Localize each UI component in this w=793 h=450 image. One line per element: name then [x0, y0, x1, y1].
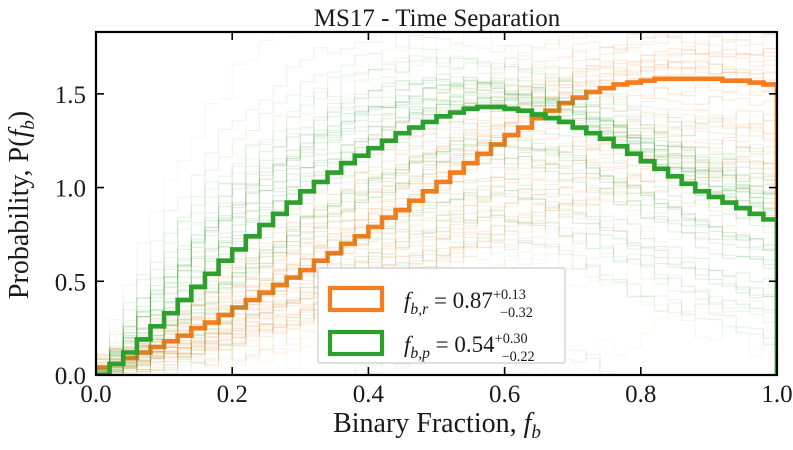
y-axis-label: Probability, P(fb)	[4, 111, 39, 299]
x-tick-label: 0.6	[489, 381, 520, 408]
x-axis-label-text: Binary Fraction,	[333, 408, 524, 439]
y-axis-label-tail: )	[4, 111, 35, 120]
x-axis-label-subscript: b	[531, 422, 541, 443]
svg-text:Binary Fraction, fb: Binary Fraction, fb	[333, 408, 541, 443]
y-axis-label-subscript: b	[18, 120, 39, 130]
x-tick-label: 0.4	[353, 381, 385, 408]
y-tick-label: 0.5	[55, 269, 86, 296]
svg-text:Probability, P(fb): Probability, P(fb)	[4, 111, 39, 299]
y-tick-label: 1.5	[55, 82, 86, 109]
legend-swatch	[330, 332, 382, 354]
x-axis-label: Binary Fraction, fb	[333, 408, 541, 443]
x-tick-label: 0.8	[625, 381, 656, 408]
x-tick-label: 0.2	[217, 381, 248, 408]
y-tick-label: 0.0	[55, 363, 86, 390]
plot-svg: MS17 - Time Separation Probability, P(fb…	[0, 0, 793, 450]
y-tick-label: 1.0	[55, 176, 86, 203]
x-tick-label: 1.0	[761, 381, 792, 408]
chart-title: MS17 - Time Separation	[314, 5, 561, 32]
legend-layer[interactable]: fb,r = 0.87+0.13−0.32fb,p = 0.54+0.30−0.…	[318, 268, 565, 365]
y-axis-label-text: Probability, P(	[4, 138, 35, 300]
legend-swatch	[330, 288, 382, 310]
figure-canvas: MS17 - Time Separation Probability, P(fb…	[0, 0, 793, 450]
